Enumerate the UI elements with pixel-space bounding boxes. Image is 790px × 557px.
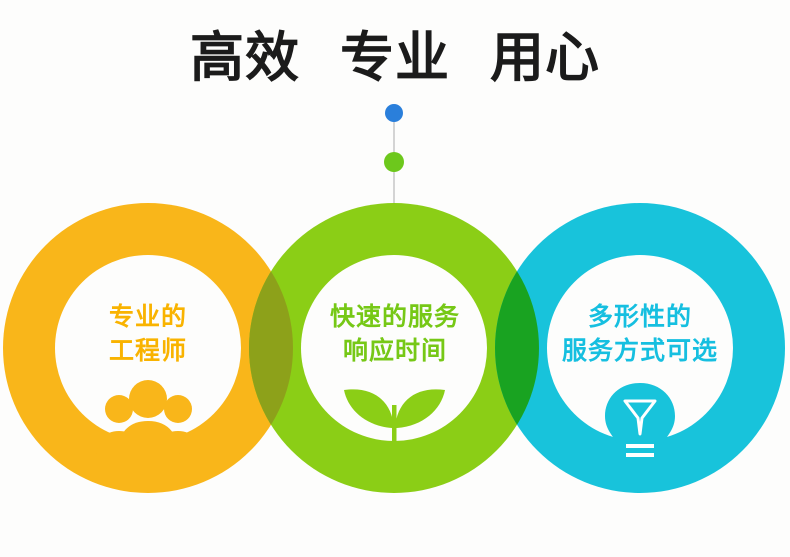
poster-canvas: 高效专业用心 — [0, 0, 790, 557]
circle-label-flexible-line-2: 服务方式可选 — [523, 334, 757, 368]
circle-label-engineers-line-1: 专业的 — [48, 300, 248, 334]
circle-label-flexible: 多形性的 服务方式可选 — [523, 300, 757, 368]
circle-label-response: 快速的服务 响应时间 — [288, 300, 502, 368]
circle-label-response-line-2: 响应时间 — [288, 334, 502, 368]
overlap-green-cyan — [0, 0, 790, 557]
circle-label-response-line-1: 快速的服务 — [288, 300, 502, 334]
circle-label-flexible-line-1: 多形性的 — [523, 300, 757, 334]
circle-label-engineers: 专业的 工程师 — [48, 300, 248, 368]
venn-rings-graphic — [0, 0, 790, 557]
circle-label-engineers-line-2: 工程师 — [48, 334, 248, 368]
